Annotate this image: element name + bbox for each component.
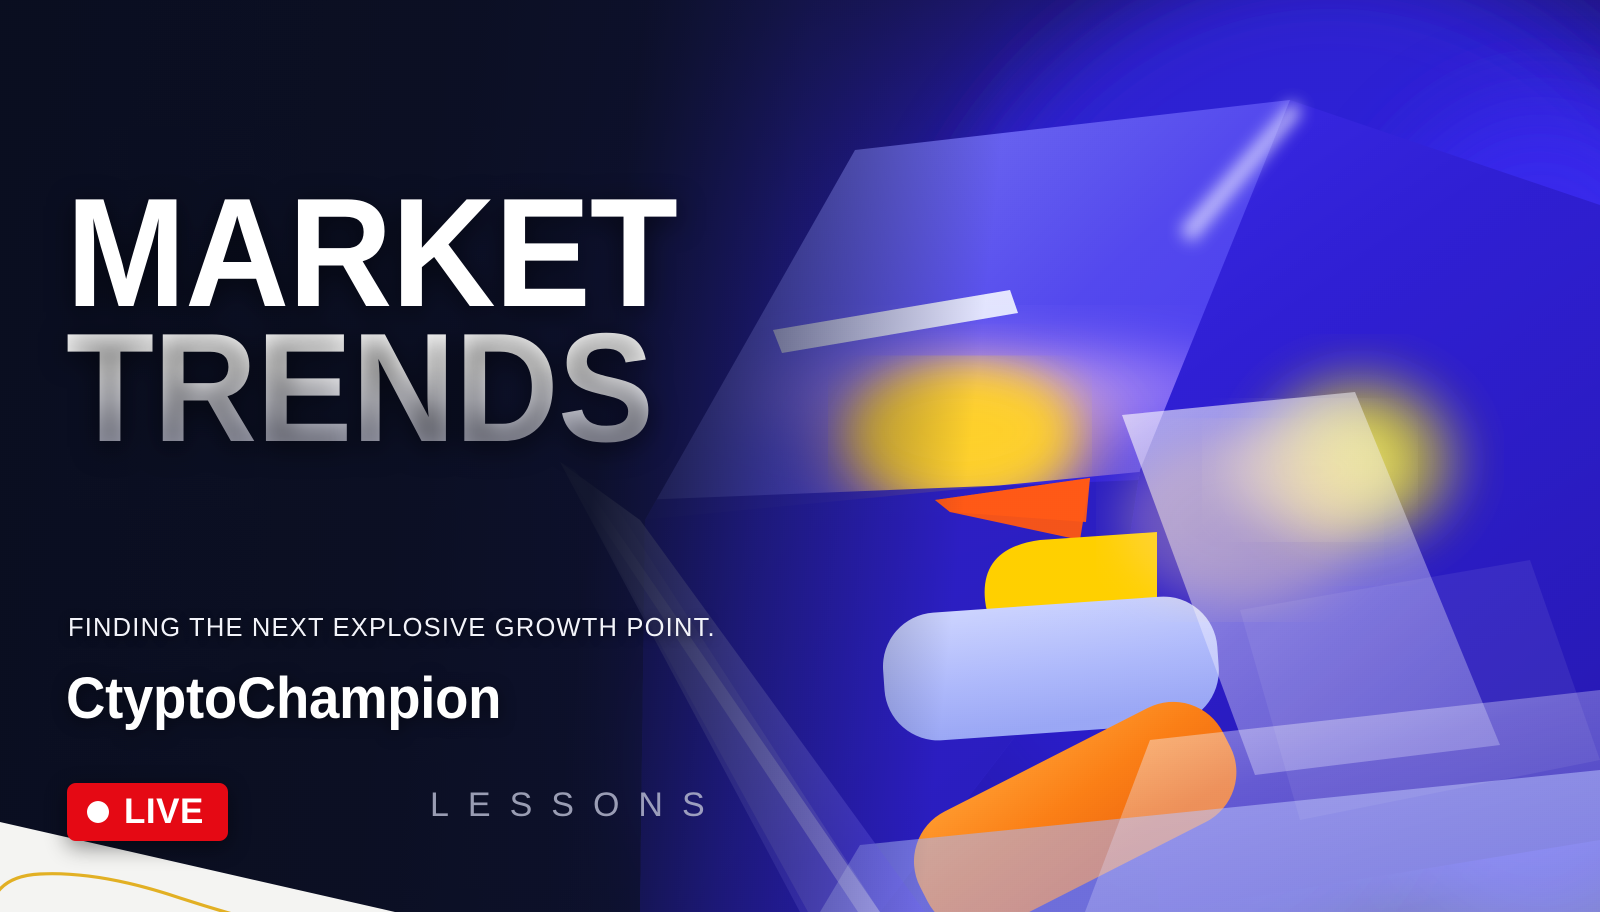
record-dot-icon (87, 801, 109, 823)
left-dark-overlay (0, 0, 1600, 912)
live-badge-label: LIVE (124, 794, 204, 829)
poster-canvas: MARKETTRENDS FINDING THE NEXT EXPLOSIVE … (0, 0, 1600, 912)
live-badge[interactable]: LIVE (67, 783, 228, 841)
